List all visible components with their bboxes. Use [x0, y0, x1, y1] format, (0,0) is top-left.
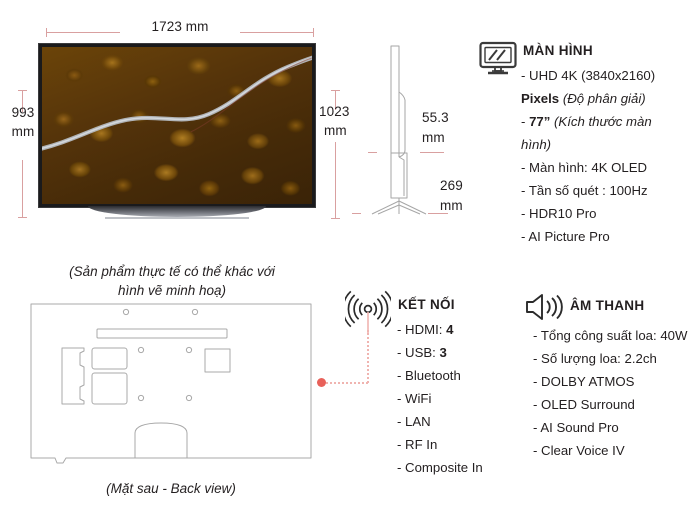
- display-line-refresh: - Tần số quét : 100Hz: [521, 179, 691, 202]
- disclaimer-line-1: (Sản phẩm thực tế có thể khác với: [44, 262, 300, 281]
- connectivity-items: - HDMI: 4 - USB: 3 - Bluetooth - WiFi - …: [397, 318, 527, 479]
- connector-port-marker: [317, 378, 326, 387]
- width-label: 1723 mm: [120, 19, 240, 36]
- tv-stand: [88, 206, 266, 217]
- stand-depth-tick-left: [352, 213, 361, 214]
- audio-item-oled-surround: - OLED Surround: [533, 393, 696, 416]
- audio-items: - Tổng công suất loa: 40W - Số lượng loa…: [533, 324, 696, 462]
- speaker-icon: [524, 292, 568, 327]
- display-line-panel: - Màn hình: 4K OLED: [521, 156, 691, 179]
- tv-foot: [105, 217, 250, 219]
- height-left-tick-top: [18, 90, 27, 91]
- tv-back-view: [30, 303, 312, 466]
- depth-value: 55.3: [422, 110, 482, 127]
- audio-item-clear-voice: - Clear Voice IV: [533, 439, 696, 462]
- disclaimer-note: (Sản phẩm thực tế có thể khác với hình v…: [44, 262, 300, 300]
- display-lines: - UHD 4K (3840x2160) Pixels (Độ phân giả…: [521, 64, 691, 248]
- tv-bezel: [38, 43, 316, 208]
- forest-road-overlay: [42, 47, 312, 204]
- connectivity-item-composite-in: - Composite In: [397, 456, 527, 479]
- back-panel-drawing: [30, 303, 312, 466]
- height-left-unit: mm: [0, 124, 46, 141]
- audio-item-channels: - Số lượng loa: 2.2ch: [533, 347, 696, 370]
- display-line-size-cont: hình): [521, 133, 691, 156]
- connector-leader-horizontal: [326, 382, 368, 384]
- connectivity-item-bluetooth: - Bluetooth: [397, 364, 527, 387]
- display-line-size: - 77” (Kích thước màn: [521, 110, 691, 133]
- stand-depth-unit: mm: [440, 198, 500, 215]
- display-line-ai-picture: - AI Picture Pro: [521, 225, 691, 248]
- connectivity-item-hdmi-label: - HDMI:: [397, 322, 446, 337]
- display-line-resolution: - UHD 4K (3840x2160): [521, 64, 691, 87]
- depth-unit: mm: [422, 130, 482, 147]
- signal-waves-icon: [345, 288, 391, 339]
- audio-item-dolby-atmos: - DOLBY ATMOS: [533, 370, 696, 393]
- connectivity-item-rf-in: - RF In: [397, 433, 527, 456]
- audio-title: ÂM THANH: [570, 298, 644, 313]
- depth-line: [426, 152, 444, 153]
- display-line-pixels: Pixels (Độ phân giải): [521, 87, 691, 110]
- width-tick-left: [46, 28, 47, 37]
- tv-screen-image: [42, 47, 312, 204]
- disclaimer-line-2: hình vẽ minh hoạ): [44, 281, 300, 300]
- height-left-value: 993: [0, 105, 46, 122]
- height-left-line-bottom: [22, 160, 23, 218]
- audio-item-ai-sound-pro: - AI Sound Pro: [533, 416, 696, 439]
- display-title: MÀN HÌNH: [523, 43, 593, 58]
- connectivity-item-wifi: - WiFi: [397, 387, 527, 410]
- connectivity-item-usb-label: - USB:: [397, 345, 440, 360]
- connectivity-title: KẾT NỐI: [398, 297, 455, 312]
- display-line-hdr: - HDR10 Pro: [521, 202, 691, 225]
- monitor-icon: [478, 40, 518, 83]
- connectivity-item-usb-value: 3: [440, 345, 447, 360]
- audio-item-power: - Tổng công suất loa: 40W: [533, 324, 696, 347]
- backview-caption: (Mặt sau - Back view): [46, 479, 296, 498]
- stand-depth-value: 269: [440, 178, 500, 195]
- connectivity-item-lan: - LAN: [397, 410, 527, 433]
- height-left-tick-bottom: [18, 217, 27, 218]
- connectivity-item-hdmi-value: 4: [446, 322, 453, 337]
- connectivity-item-usb: - USB: 3: [397, 341, 527, 364]
- product-spec-sheet: 1723 mm 993 mm 1023 mm: [0, 0, 696, 522]
- depth-tick-left: [368, 152, 377, 153]
- width-tick-right: [313, 28, 314, 37]
- height-right-tick-bottom: [331, 218, 340, 219]
- height-right-line-bottom: [335, 142, 336, 219]
- height-right-tick-top: [331, 90, 340, 91]
- connectivity-item-hdmi: - HDMI: 4: [397, 318, 527, 341]
- tv-front-view: [38, 43, 316, 208]
